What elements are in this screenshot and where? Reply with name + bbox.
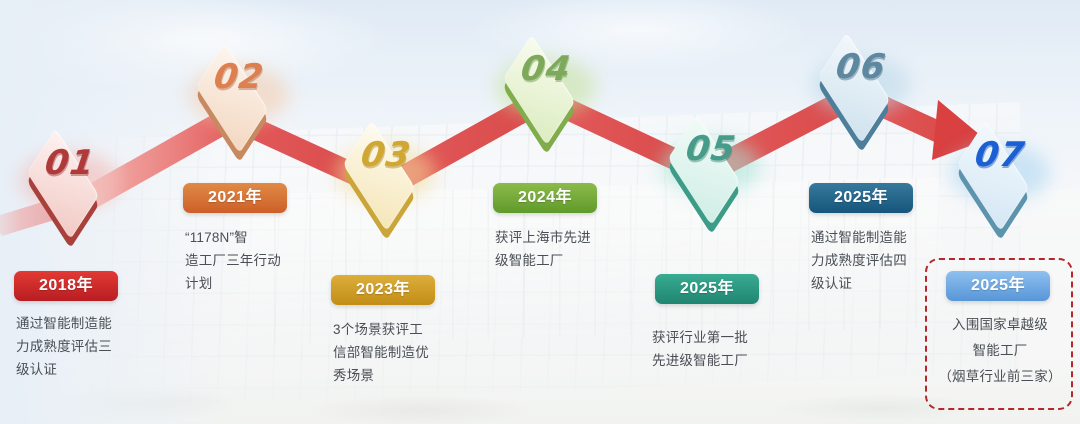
step-06-description: 通过智能制造能 力成熟度评估四 级认证 xyxy=(811,226,941,295)
step-node-01[interactable]: 01 xyxy=(14,136,126,214)
step-04-description: 获评上海市先进 级智能工厂 xyxy=(495,226,625,272)
timeline-infographic: 01 2018年 通过智能制造能 力成熟度评估三 级认证 02 2021年 “1… xyxy=(0,0,1080,424)
step-node-06[interactable]: 06 xyxy=(805,40,917,118)
step-node-03[interactable]: 03 xyxy=(330,128,442,206)
step-07-year-badge[interactable]: 2025年 xyxy=(946,271,1050,301)
step-01-number: 01 xyxy=(10,136,130,190)
step-node-02[interactable]: 02 xyxy=(183,50,295,128)
step-04-number: 04 xyxy=(486,42,606,96)
step-03-description: 3个场景获评工 信部智能制造优 秀场景 xyxy=(333,318,463,387)
step-07-number: 07 xyxy=(940,128,1060,182)
step-node-05[interactable]: 05 xyxy=(655,122,767,200)
step-03-number: 03 xyxy=(326,128,446,182)
step-01-description: 通过智能制造能 力成熟度评估三 级认证 xyxy=(16,312,146,381)
step-node-04[interactable]: 04 xyxy=(490,42,602,120)
step-04-year-badge[interactable]: 2024年 xyxy=(493,183,597,213)
step-02-year-badge[interactable]: 2021年 xyxy=(183,183,287,213)
step-05-description: 获评行业第一批 先进级智能工厂 xyxy=(652,326,794,372)
step-node-07[interactable]: 07 xyxy=(944,128,1056,206)
step-02-number: 02 xyxy=(179,50,299,104)
step-06-year-badge[interactable]: 2025年 xyxy=(809,183,913,213)
step-05-number: 05 xyxy=(651,122,771,176)
step-02-description: “1178N”智 造工厂三年行动 计划 xyxy=(185,226,325,295)
background-ground xyxy=(0,362,1080,424)
step-03-year-badge[interactable]: 2023年 xyxy=(331,275,435,305)
step-05-year-badge[interactable]: 2025年 xyxy=(655,274,759,304)
step-07-description: 入围国家卓越级 智能工厂 （烟草行业前三家） xyxy=(934,312,1066,390)
step-06-number: 06 xyxy=(801,40,921,94)
step-01-year-badge[interactable]: 2018年 xyxy=(14,271,118,301)
